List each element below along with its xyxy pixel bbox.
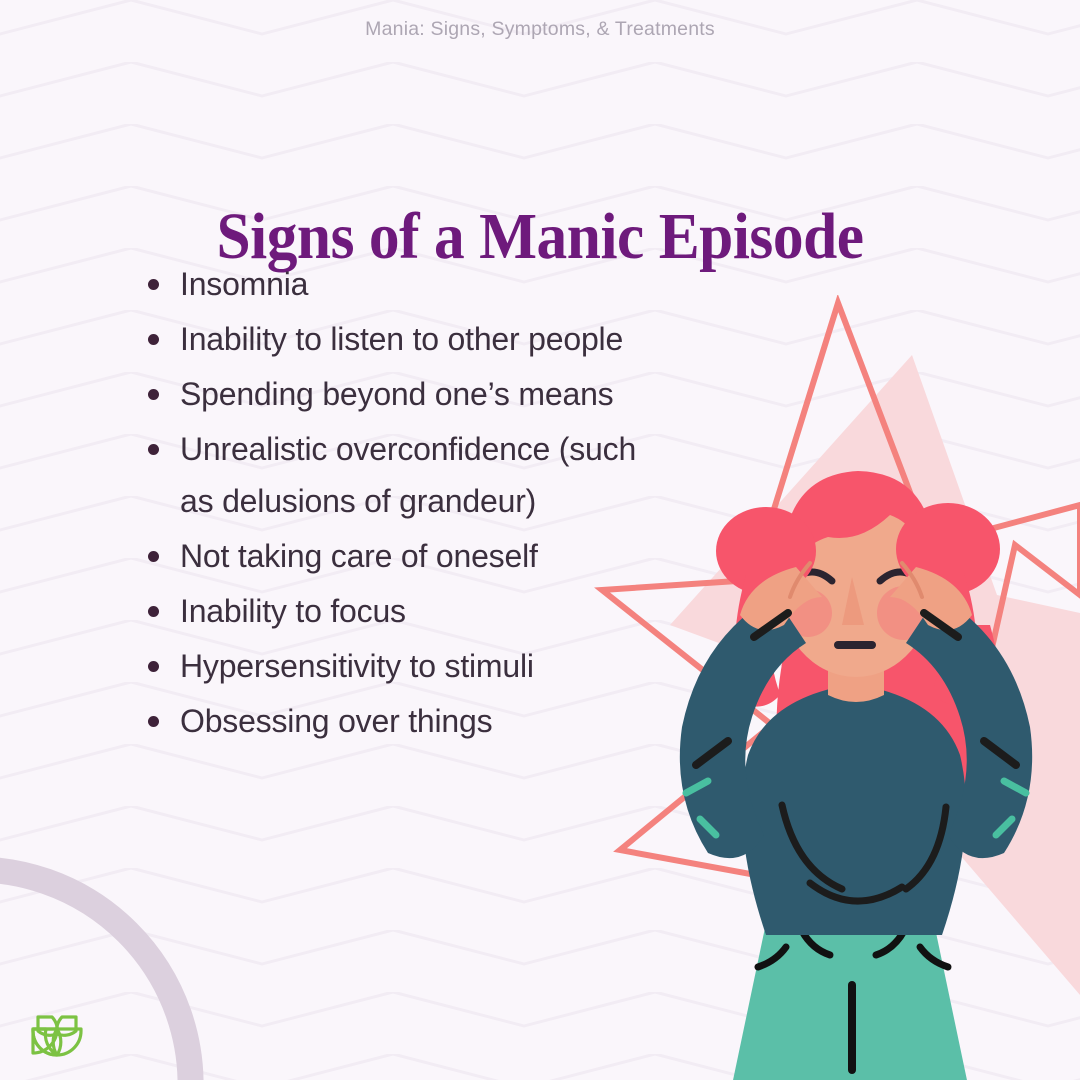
list-item: Insomnia	[140, 258, 670, 310]
pigtail-right	[932, 573, 977, 705]
bullet-dot-icon	[148, 661, 159, 672]
star-outline-shape	[602, 303, 1080, 885]
list-item-label: Hypersensitivity to stimuli	[180, 648, 534, 684]
neck	[828, 647, 884, 702]
header-title: Mania: Signs, Symptoms, & Treatments	[365, 18, 715, 40]
skirt	[732, 915, 968, 1080]
arm-right	[906, 595, 1032, 858]
sweater-torso	[742, 685, 966, 935]
eye-right	[880, 572, 920, 581]
sweater-fold-right	[906, 807, 946, 889]
list-item: Spending beyond one’s means	[140, 368, 670, 420]
sweater-fold-left	[782, 805, 842, 889]
list-item: Inability to focus	[140, 585, 670, 637]
list-item: Obsessing over things	[140, 695, 670, 747]
hair-bun-left	[716, 507, 816, 595]
blush-right	[877, 586, 931, 640]
bullet-dot-icon	[148, 716, 159, 727]
hair-bun-right	[896, 503, 1000, 595]
header-bar: Mania: Signs, Symptoms, & Treatments	[0, 18, 1080, 41]
ear	[928, 579, 952, 615]
face	[778, 497, 934, 677]
list-item: Unrealistic overconfidence (such as delu…	[140, 423, 670, 527]
star-filled-shape	[670, 355, 1080, 995]
blush-left	[784, 589, 832, 637]
hand-left	[740, 567, 822, 630]
list-item-label: Inability to focus	[180, 593, 406, 629]
bullet-dot-icon	[148, 389, 159, 400]
list-item-label: Not taking care of oneself	[180, 538, 538, 574]
sleeve-cuff-right	[924, 613, 958, 637]
infographic-canvas: Mania: Signs, Symptoms, & Treatments Sig…	[0, 0, 1080, 1080]
character-figure	[680, 471, 1032, 1080]
list-item: Not taking care of oneself	[140, 530, 670, 582]
bullet-dot-icon	[148, 551, 159, 562]
list-item-label: Obsessing over things	[180, 703, 492, 739]
eye-left	[792, 572, 832, 581]
bullet-dot-icon	[148, 334, 159, 345]
hair-fringe	[782, 471, 937, 587]
list-item-label: Insomnia	[180, 266, 308, 302]
skirt-pocket-right	[876, 931, 904, 955]
list-item-label: Spending beyond one’s means	[180, 376, 613, 412]
list-item: Inability to listen to other people	[140, 313, 670, 365]
bullet-dot-icon	[148, 606, 159, 617]
sweater-hem-curve	[810, 883, 902, 901]
list-item: Hypersensitivity to stimuli	[140, 640, 670, 692]
sleeve-cuff-left	[754, 613, 788, 637]
lotus-leaf-logo-icon	[22, 998, 92, 1068]
pigtail-left	[735, 575, 780, 707]
list-item-label: Inability to listen to other people	[180, 321, 623, 357]
hand-right	[890, 567, 972, 630]
list-item-label: Unrealistic overconfidence (such as delu…	[180, 431, 636, 519]
nose	[842, 577, 864, 625]
skirt-pocket-left	[802, 931, 830, 955]
arm-left	[680, 595, 806, 858]
bullet-dot-icon	[148, 279, 159, 290]
signs-list: Insomnia Inability to listen to other pe…	[140, 258, 670, 750]
hair-back	[777, 625, 1005, 803]
bullet-dot-icon	[148, 444, 159, 455]
